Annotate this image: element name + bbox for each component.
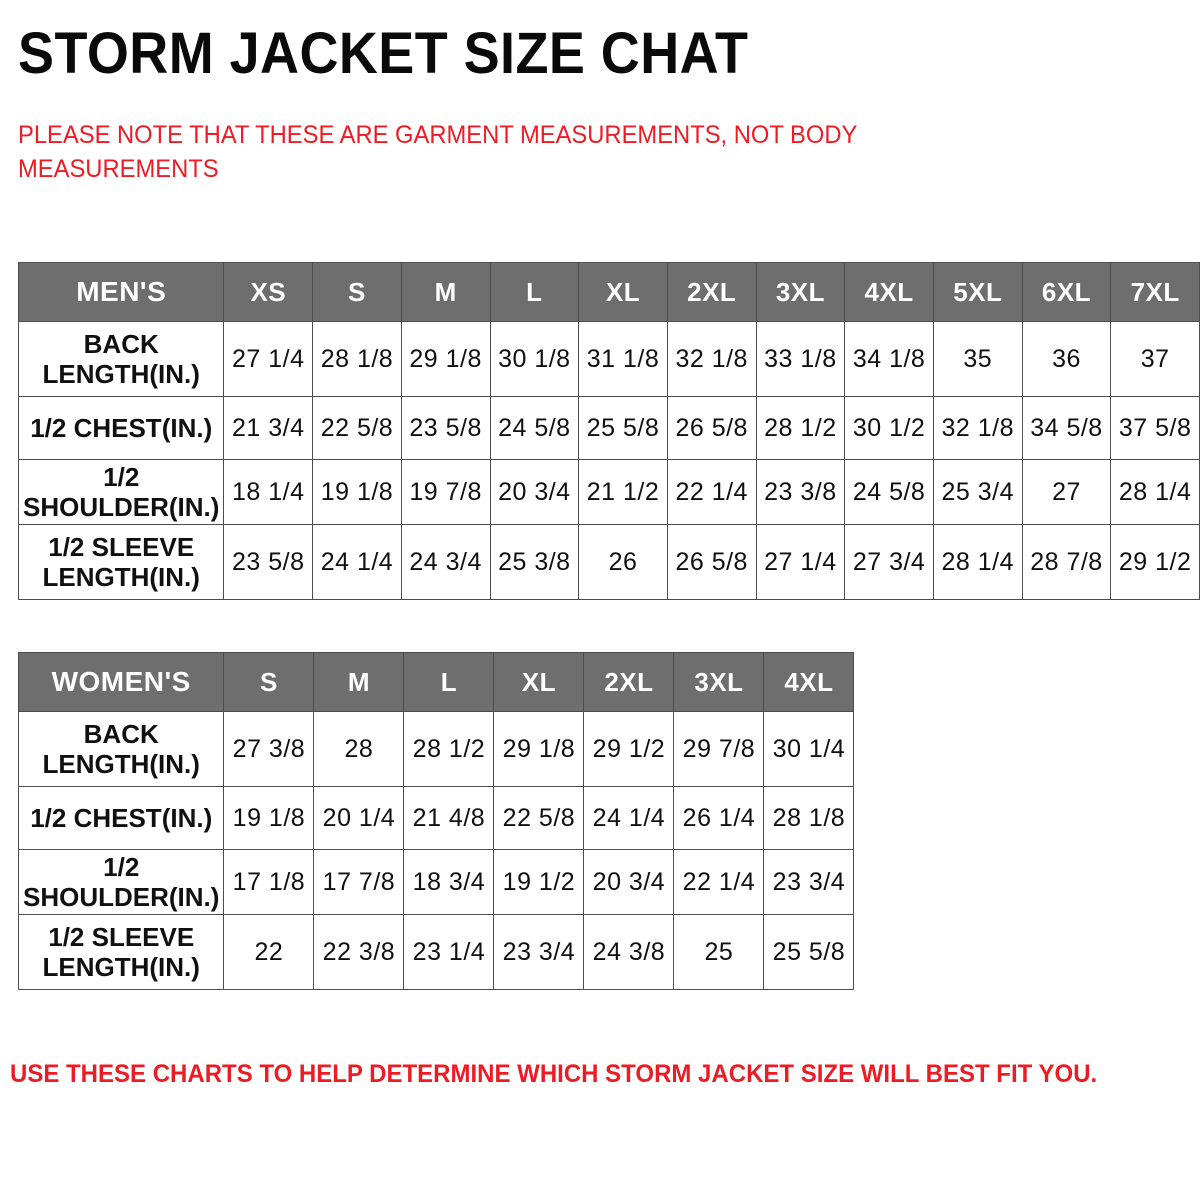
measurement-cell: 22 5/8 [313, 397, 402, 460]
measurement-value: 29 1/2 [1119, 548, 1192, 577]
measurement-value: 19 1/8 [233, 804, 306, 833]
measurement-row-label-line: 1/2 SHOULDER(IN.) [23, 852, 219, 912]
measurement-cell: 18 3/4 [404, 850, 494, 915]
measurement-value: 24 1/4 [321, 548, 394, 577]
measurement-cell: 19 7/8 [401, 460, 490, 525]
mens-category-header: MEN'S [19, 263, 224, 322]
measurement-row-label-line: LENGTH(IN.) [23, 562, 219, 592]
measurement-value: 17 1/8 [233, 868, 306, 897]
measurement-cell: 27 3/4 [845, 525, 934, 600]
measurement-row-label-line: LENGTH(IN.) [23, 359, 219, 389]
measurement-value: 27 1/4 [764, 548, 837, 577]
table-row: 1/2 CHEST(IN.)21 3/422 5/823 5/824 5/825… [19, 397, 1200, 460]
measurement-value: 28 1/2 [764, 414, 837, 443]
measurement-value: 34 1/8 [853, 345, 926, 374]
measurement-cell: 23 3/8 [756, 460, 845, 525]
measurement-value: 21 4/8 [413, 804, 486, 833]
size-column-header: 7XL [1111, 263, 1200, 322]
table-header-row: MEN'S XSSMLXL2XL3XL4XL5XL6XL7XL [19, 263, 1200, 322]
size-column-header: 4XL [764, 653, 854, 712]
size-column-header: S [224, 653, 314, 712]
measurement-value: 26 1/4 [683, 804, 756, 833]
size-column-header: 6XL [1022, 263, 1111, 322]
measurement-cell: 25 5/8 [579, 397, 668, 460]
table-header-row: WOMEN'S SMLXL2XL3XL4XL [19, 653, 854, 712]
size-column-header: M [314, 653, 404, 712]
garment-measurement-note: PLEASE NOTE THAT THESE ARE GARMENT MEASU… [18, 118, 930, 186]
measurement-cell: 36 [1022, 322, 1111, 397]
measurement-cell: 26 1/4 [674, 787, 764, 850]
measurement-cell: 19 1/2 [494, 850, 584, 915]
size-column-header: L [490, 263, 579, 322]
measurement-value: 25 [705, 938, 734, 967]
measurement-cell: 21 3/4 [224, 397, 313, 460]
mens-size-chart: MEN'S XSSMLXL2XL3XL4XL5XL6XL7XL BACKLENG… [18, 262, 1200, 600]
measurement-value: 35 [963, 345, 992, 374]
measurement-value: 28 1/8 [321, 345, 394, 374]
measurement-value: 20 1/4 [323, 804, 396, 833]
measurement-value: 23 5/8 [232, 548, 305, 577]
size-column-header: 5XL [933, 263, 1022, 322]
measurement-value: 22 1/4 [675, 478, 748, 507]
page-title: STORM JACKET SIZE CHAT [18, 22, 748, 86]
measurement-row-label-line: LENGTH(IN.) [23, 952, 219, 982]
measurement-cell: 35 [933, 322, 1022, 397]
measurement-cell: 19 1/8 [313, 460, 402, 525]
measurement-value: 34 5/8 [1030, 414, 1103, 443]
measurement-value: 22 5/8 [321, 414, 394, 443]
measurement-cell: 24 5/8 [845, 460, 934, 525]
size-chart-page: STORM JACKET SIZE CHAT PLEASE NOTE THAT … [0, 0, 1200, 1200]
size-column-header: 3XL [674, 653, 764, 712]
measurement-value: 20 3/4 [498, 478, 571, 507]
measurement-row-label: 1/2 SHOULDER(IN.) [19, 850, 224, 915]
measurement-cell: 23 5/8 [401, 397, 490, 460]
measurement-cell: 21 4/8 [404, 787, 494, 850]
measurement-value: 26 5/8 [675, 414, 748, 443]
measurement-row-label-line: 1/2 SLEEVE [23, 922, 219, 952]
size-column-header: XL [579, 263, 668, 322]
measurement-cell: 20 3/4 [584, 850, 674, 915]
measurement-cell: 21 1/2 [579, 460, 668, 525]
measurement-value: 37 [1141, 345, 1170, 374]
measurement-value: 21 1/2 [587, 478, 660, 507]
measurement-cell: 17 7/8 [314, 850, 404, 915]
size-column-header: L [404, 653, 494, 712]
measurement-cell: 30 1/8 [490, 322, 579, 397]
measurement-value: 18 3/4 [413, 868, 486, 897]
size-column-header: M [401, 263, 490, 322]
measurement-value: 29 7/8 [683, 735, 756, 764]
measurement-value: 33 1/8 [764, 345, 837, 374]
measurement-value: 27 [1052, 478, 1081, 507]
measurement-cell: 30 1/2 [845, 397, 934, 460]
measurement-value: 24 3/4 [409, 548, 482, 577]
measurement-cell: 28 7/8 [1022, 525, 1111, 600]
measurement-value: 23 3/4 [773, 868, 846, 897]
measurement-value: 27 1/4 [232, 345, 305, 374]
table-row: 1/2 SHOULDER(IN.)18 1/419 1/819 7/820 3/… [19, 460, 1200, 525]
measurement-value: 21 3/4 [232, 414, 305, 443]
measurement-cell: 28 1/8 [764, 787, 854, 850]
measurement-value: 20 3/4 [593, 868, 666, 897]
measurement-cell: 22 3/8 [314, 915, 404, 990]
measurement-row-label-line: 1/2 SHOULDER(IN.) [23, 462, 219, 522]
measurement-value: 28 1/2 [413, 735, 486, 764]
measurement-value: 32 1/8 [942, 414, 1015, 443]
measurement-cell: 27 1/4 [224, 322, 313, 397]
measurement-row-label-line: 1/2 SLEEVE [23, 532, 219, 562]
measurement-value: 19 7/8 [409, 478, 482, 507]
size-column-header: 2XL [667, 263, 756, 322]
measurement-value: 25 3/4 [942, 478, 1015, 507]
measurement-value: 23 1/4 [413, 938, 486, 967]
measurement-cell: 34 5/8 [1022, 397, 1111, 460]
size-column-header: XL [494, 653, 584, 712]
measurement-row-label-line: BACK [23, 329, 219, 359]
measurement-value: 25 5/8 [773, 938, 846, 967]
measurement-cell: 37 5/8 [1111, 397, 1200, 460]
measurement-cell: 34 1/8 [845, 322, 934, 397]
measurement-cell: 22 1/4 [667, 460, 756, 525]
measurement-row-label: 1/2 CHEST(IN.) [19, 397, 224, 460]
measurement-value: 36 [1052, 345, 1081, 374]
measurement-value: 27 3/4 [853, 548, 926, 577]
measurement-value: 30 1/4 [773, 735, 846, 764]
measurement-cell: 29 1/2 [1111, 525, 1200, 600]
table-row: BACKLENGTH(IN.)27 3/82828 1/229 1/829 1/… [19, 712, 854, 787]
measurement-cell: 28 1/4 [933, 525, 1022, 600]
measurement-row-label-line: 1/2 CHEST(IN.) [23, 803, 219, 833]
measurement-value: 26 [609, 548, 638, 577]
mens-table-body: BACKLENGTH(IN.)27 1/428 1/829 1/830 1/83… [19, 322, 1200, 600]
measurement-cell: 25 5/8 [764, 915, 854, 990]
measurement-cell: 28 1/8 [313, 322, 402, 397]
measurement-value: 23 3/4 [503, 938, 576, 967]
measurement-value: 23 5/8 [409, 414, 482, 443]
measurement-value: 28 1/8 [773, 804, 846, 833]
measurement-row-label: BACKLENGTH(IN.) [19, 712, 224, 787]
size-column-header: 4XL [845, 263, 934, 322]
measurement-cell: 23 5/8 [224, 525, 313, 600]
measurement-value: 30 1/8 [498, 345, 571, 374]
measurement-cell: 22 1/4 [674, 850, 764, 915]
measurement-cell: 28 1/2 [404, 712, 494, 787]
measurement-row-label: 1/2 SHOULDER(IN.) [19, 460, 224, 525]
table-row: 1/2 SLEEVELENGTH(IN.)23 5/824 1/424 3/42… [19, 525, 1200, 600]
measurement-value: 28 7/8 [1030, 548, 1103, 577]
measurement-value: 30 1/2 [853, 414, 926, 443]
measurement-value: 28 [345, 735, 374, 764]
measurement-value: 24 3/8 [593, 938, 666, 967]
measurement-cell: 27 3/8 [224, 712, 314, 787]
measurement-value: 25 5/8 [587, 414, 660, 443]
footer-note: USE THESE CHARTS TO HELP DETERMINE WHICH… [10, 1058, 1143, 1090]
measurement-value: 31 1/8 [587, 345, 660, 374]
measurement-cell: 17 1/8 [224, 850, 314, 915]
measurement-value: 37 5/8 [1119, 414, 1192, 443]
measurement-value: 17 7/8 [323, 868, 396, 897]
measurement-value: 32 1/8 [675, 345, 748, 374]
measurement-cell: 37 [1111, 322, 1200, 397]
table-row: BACKLENGTH(IN.)27 1/428 1/829 1/830 1/83… [19, 322, 1200, 397]
measurement-row-label: BACKLENGTH(IN.) [19, 322, 224, 397]
measurement-cell: 20 3/4 [490, 460, 579, 525]
measurement-cell: 28 1/4 [1111, 460, 1200, 525]
measurement-value: 29 1/8 [409, 345, 482, 374]
measurement-cell: 32 1/8 [933, 397, 1022, 460]
measurement-value: 26 5/8 [675, 548, 748, 577]
measurement-cell: 29 1/2 [584, 712, 674, 787]
measurement-cell: 25 [674, 915, 764, 990]
measurement-row-label: 1/2 SLEEVELENGTH(IN.) [19, 915, 224, 990]
measurement-value: 29 1/8 [503, 735, 576, 764]
measurement-cell: 26 5/8 [667, 397, 756, 460]
measurement-value: 22 3/8 [323, 938, 396, 967]
size-column-header: XS [224, 263, 313, 322]
measurement-cell: 24 3/8 [584, 915, 674, 990]
measurement-cell: 25 3/8 [490, 525, 579, 600]
measurement-value: 19 1/2 [503, 868, 576, 897]
measurement-value: 28 1/4 [942, 548, 1015, 577]
measurement-value: 27 3/8 [233, 735, 306, 764]
table-row: 1/2 SHOULDER(IN.)17 1/817 7/818 3/419 1/… [19, 850, 854, 915]
womens-size-chart: WOMEN'S SMLXL2XL3XL4XL BACKLENGTH(IN.)27… [18, 652, 854, 990]
measurement-cell: 32 1/8 [667, 322, 756, 397]
measurement-cell: 23 3/4 [764, 850, 854, 915]
size-column-header: 3XL [756, 263, 845, 322]
measurement-cell: 24 1/4 [584, 787, 674, 850]
measurement-cell: 31 1/8 [579, 322, 668, 397]
measurement-cell: 18 1/4 [224, 460, 313, 525]
measurement-row-label: 1/2 CHEST(IN.) [19, 787, 224, 850]
measurement-cell: 26 [579, 525, 668, 600]
measurement-cell: 27 [1022, 460, 1111, 525]
measurement-cell: 27 1/4 [756, 525, 845, 600]
measurement-value: 23 3/8 [764, 478, 837, 507]
size-column-header: S [313, 263, 402, 322]
size-column-header: 2XL [584, 653, 674, 712]
measurement-value: 22 1/4 [683, 868, 756, 897]
measurement-value: 19 1/8 [321, 478, 394, 507]
measurement-cell: 19 1/8 [224, 787, 314, 850]
measurement-value: 22 [255, 938, 284, 967]
measurement-value: 24 5/8 [498, 414, 571, 443]
measurement-cell: 28 1/2 [756, 397, 845, 460]
womens-size-table: WOMEN'S SMLXL2XL3XL4XL BACKLENGTH(IN.)27… [18, 652, 854, 990]
table-row: 1/2 CHEST(IN.)19 1/820 1/421 4/822 5/824… [19, 787, 854, 850]
measurement-row-label-line: LENGTH(IN.) [23, 749, 219, 779]
measurement-cell: 29 7/8 [674, 712, 764, 787]
measurement-row-label: 1/2 SLEEVELENGTH(IN.) [19, 525, 224, 600]
measurement-cell: 20 1/4 [314, 787, 404, 850]
measurement-cell: 26 5/8 [667, 525, 756, 600]
measurement-cell: 33 1/8 [756, 322, 845, 397]
measurement-cell: 22 [224, 915, 314, 990]
measurement-cell: 22 5/8 [494, 787, 584, 850]
mens-table-header: MEN'S XSSMLXL2XL3XL4XL5XL6XL7XL [19, 263, 1200, 322]
womens-category-header: WOMEN'S [19, 653, 224, 712]
measurement-cell: 25 3/4 [933, 460, 1022, 525]
mens-size-table: MEN'S XSSMLXL2XL3XL4XL5XL6XL7XL BACKLENG… [18, 262, 1200, 600]
measurement-cell: 23 3/4 [494, 915, 584, 990]
measurement-cell: 24 1/4 [313, 525, 402, 600]
measurement-cell: 29 1/8 [401, 322, 490, 397]
measurement-value: 24 5/8 [853, 478, 926, 507]
measurement-cell: 28 [314, 712, 404, 787]
measurement-value: 18 1/4 [232, 478, 305, 507]
womens-table-header: WOMEN'S SMLXL2XL3XL4XL [19, 653, 854, 712]
measurement-value: 22 5/8 [503, 804, 576, 833]
measurement-cell: 24 5/8 [490, 397, 579, 460]
measurement-value: 25 3/8 [498, 548, 571, 577]
measurement-cell: 30 1/4 [764, 712, 854, 787]
measurement-cell: 23 1/4 [404, 915, 494, 990]
measurement-cell: 24 3/4 [401, 525, 490, 600]
womens-table-body: BACKLENGTH(IN.)27 3/82828 1/229 1/829 1/… [19, 712, 854, 990]
measurement-value: 28 1/4 [1119, 478, 1192, 507]
measurement-row-label-line: BACK [23, 719, 219, 749]
table-row: 1/2 SLEEVELENGTH(IN.)2222 3/823 1/423 3/… [19, 915, 854, 990]
measurement-row-label-line: 1/2 CHEST(IN.) [23, 413, 219, 443]
measurement-cell: 29 1/8 [494, 712, 584, 787]
measurement-value: 29 1/2 [593, 735, 666, 764]
measurement-value: 24 1/4 [593, 804, 666, 833]
